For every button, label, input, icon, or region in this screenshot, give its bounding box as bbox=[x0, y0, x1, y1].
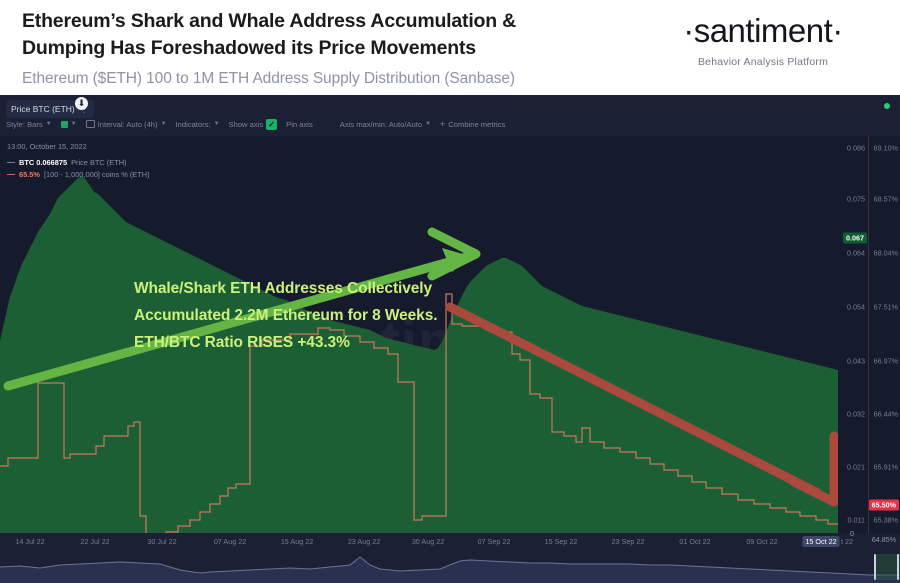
chart-toolbar: Price BTC (ETH) ⋮ ⬇ Style: Bars ▼ ▼ Inte… bbox=[0, 95, 900, 136]
metric-chip-label: Price BTC (ETH) bbox=[11, 104, 75, 114]
x-tick: 30 Aug 22 bbox=[412, 537, 444, 546]
chart-options-bar: Style: Bars ▼ ▼ Interval: Auto (4h) ▼ In… bbox=[6, 116, 505, 132]
y-tick-right: 68.04% bbox=[874, 249, 898, 258]
x-tick: 14 Jul 22 bbox=[15, 537, 44, 546]
x-tick-highlight: 15 Oct 22 bbox=[802, 536, 839, 547]
page-title-line-1: Ethereum’s Shark and Whale Address Accum… bbox=[22, 8, 652, 35]
chart-plot-area[interactable]: santiment bbox=[0, 136, 838, 533]
chevron-down-icon: ▼ bbox=[425, 121, 431, 127]
x-tick: 23 Aug 22 bbox=[348, 537, 380, 546]
x-tick: 23 Sep 22 bbox=[612, 537, 645, 546]
y-tick-right: 69.10% bbox=[874, 144, 898, 153]
interval-selector[interactable]: Interval: Auto (4h) ▼ bbox=[86, 120, 167, 129]
indicators-selector[interactable]: Indicators: ▼ bbox=[176, 120, 220, 129]
y-tick-right-highlight: 65.50% bbox=[869, 500, 899, 511]
color-swatch-icon bbox=[61, 121, 68, 128]
annotation-green-line-2: Accumulated 2.2M Ethereum for 8 Weeks. bbox=[134, 302, 437, 329]
legend-row-coins-pct: 65.5% [100 - 1,000,000] coins % (ETH) bbox=[7, 170, 150, 179]
style-label: Style: Bars bbox=[6, 120, 43, 129]
minimap-canvas bbox=[0, 551, 900, 583]
legend-value: BTC 0.066875 bbox=[19, 158, 67, 167]
y-tick-left: 0.011 bbox=[848, 516, 865, 525]
axis-minmax-label: Axis max/min: Auto/Auto bbox=[340, 120, 422, 129]
interval-label: Interval: Auto (4h) bbox=[98, 120, 158, 129]
indicators-label: Indicators: bbox=[176, 120, 211, 129]
legend-line-icon bbox=[7, 162, 15, 163]
chevron-down-icon: ▼ bbox=[161, 121, 167, 127]
y-tick-right: 67.51% bbox=[874, 303, 898, 312]
legend-row-price: BTC 0.066875 Price BTC (ETH) bbox=[7, 158, 150, 167]
show-axis-toggle[interactable]: Show axis ✓ bbox=[229, 119, 278, 130]
legend-timestamp: 13:00, October 15, 2022 bbox=[7, 142, 150, 151]
style-selector[interactable]: Style: Bars ▼ bbox=[6, 120, 52, 129]
calendar-icon bbox=[86, 120, 95, 128]
x-tick: 09 Oct 22 bbox=[746, 537, 777, 546]
plus-icon: + bbox=[440, 119, 445, 129]
y-tick-right: 65.38% bbox=[874, 516, 898, 525]
y-tick-left: 0.075 bbox=[847, 195, 865, 204]
y-tick-right: 66.44% bbox=[874, 410, 898, 419]
legend-line-icon bbox=[7, 174, 15, 175]
y-tick-right: 68.57% bbox=[874, 195, 898, 204]
y-axis-left[interactable]: 0.086 0.075 0.067 0.064 0.054 0.043 0.03… bbox=[838, 136, 868, 533]
annotation-green: Whale/Shark ETH Addresses Collectively A… bbox=[134, 275, 437, 356]
y-tick-left: 0.043 bbox=[847, 357, 865, 366]
annotation-green-line-3: ETH/BTC Ratio RISES +43.3% bbox=[134, 329, 437, 356]
color-selector[interactable]: ▼ bbox=[61, 121, 77, 128]
brand-logo: ·santiment· Behavior Analysis Platform bbox=[644, 12, 882, 68]
x-tick: 22 Jul 22 bbox=[80, 537, 109, 546]
annotation-green-line-1: Whale/Shark ETH Addresses Collectively bbox=[134, 275, 437, 302]
legend-value: 65.5% bbox=[19, 170, 40, 179]
legend-series-name: [100 - 1,000,000] coins % (ETH) bbox=[44, 170, 150, 179]
y-tick-left: 0.021 bbox=[847, 463, 865, 472]
show-axis-label: Show axis bbox=[229, 120, 264, 129]
minimap-handle-left[interactable] bbox=[874, 554, 876, 580]
page-title-line-2: Dumping Has Foreshadowed its Price Movem… bbox=[22, 35, 652, 62]
header-text-block: Ethereum’s Shark and Whale Address Accum… bbox=[22, 8, 652, 89]
chart-legend: 13:00, October 15, 2022 BTC 0.066875 Pri… bbox=[7, 142, 150, 179]
y-tick-left-highlight: 0.067 bbox=[843, 233, 867, 244]
y-tick-left: 0.064 bbox=[847, 249, 865, 258]
chevron-down-icon: ▼ bbox=[214, 121, 220, 127]
x-tick: 15 Aug 22 bbox=[281, 537, 313, 546]
page-subtitle: Ethereum ($ETH) 100 to 1M ETH Address Su… bbox=[22, 69, 652, 89]
checkbox-checked-icon[interactable]: ✓ bbox=[266, 119, 277, 130]
x-axis-pct-label: 64.85% bbox=[872, 535, 896, 544]
brand-tagline: Behavior Analysis Platform bbox=[644, 56, 882, 68]
chart-widget: Price BTC (ETH) ⋮ ⬇ Style: Bars ▼ ▼ Inte… bbox=[0, 95, 900, 583]
combine-metrics-label: Combine metrics bbox=[448, 120, 505, 129]
y-tick-left: 0.032 bbox=[847, 410, 865, 419]
pin-axis-toggle[interactable]: Pin axis bbox=[286, 120, 313, 129]
y-tick-left: 0.054 bbox=[847, 303, 865, 312]
x-axis[interactable]: 14 Jul 22 22 Jul 22 30 Jul 22 07 Aug 22 … bbox=[0, 533, 900, 551]
download-icon[interactable]: ⬇ bbox=[75, 97, 88, 110]
chevron-down-icon: ▼ bbox=[46, 121, 52, 127]
pin-axis-label: Pin axis bbox=[286, 120, 313, 129]
minimap-handle-right[interactable] bbox=[897, 554, 899, 580]
chevron-down-icon: ▼ bbox=[71, 121, 77, 127]
y-tick-right: 66.97% bbox=[874, 357, 898, 366]
range-selector-minimap[interactable] bbox=[0, 551, 900, 583]
brand-name: ·santiment· bbox=[644, 12, 882, 50]
status-dot-icon bbox=[884, 103, 890, 109]
y-axis-right[interactable]: 69.10% 68.57% 68.04% 67.51% 66.97% 66.44… bbox=[868, 136, 900, 533]
x-axis-zero-label: 0 bbox=[850, 529, 854, 538]
x-tick-trailing: t 22 bbox=[841, 537, 853, 546]
y-tick-right: 65.91% bbox=[874, 463, 898, 472]
x-tick: 07 Aug 22 bbox=[214, 537, 246, 546]
x-tick: 07 Sep 22 bbox=[478, 537, 511, 546]
y-tick-left: 0.086 bbox=[847, 144, 865, 153]
legend-series-name: Price BTC (ETH) bbox=[71, 158, 126, 167]
x-tick: 30 Jul 22 bbox=[147, 537, 176, 546]
x-tick: 15 Sep 22 bbox=[545, 537, 578, 546]
page-header: Ethereum’s Shark and Whale Address Accum… bbox=[0, 0, 900, 95]
combine-metrics-button[interactable]: + Combine metrics bbox=[440, 119, 505, 129]
x-tick: 01 Oct 22 bbox=[679, 537, 710, 546]
axis-minmax-selector[interactable]: Axis max/min: Auto/Auto ▼ bbox=[340, 120, 431, 129]
